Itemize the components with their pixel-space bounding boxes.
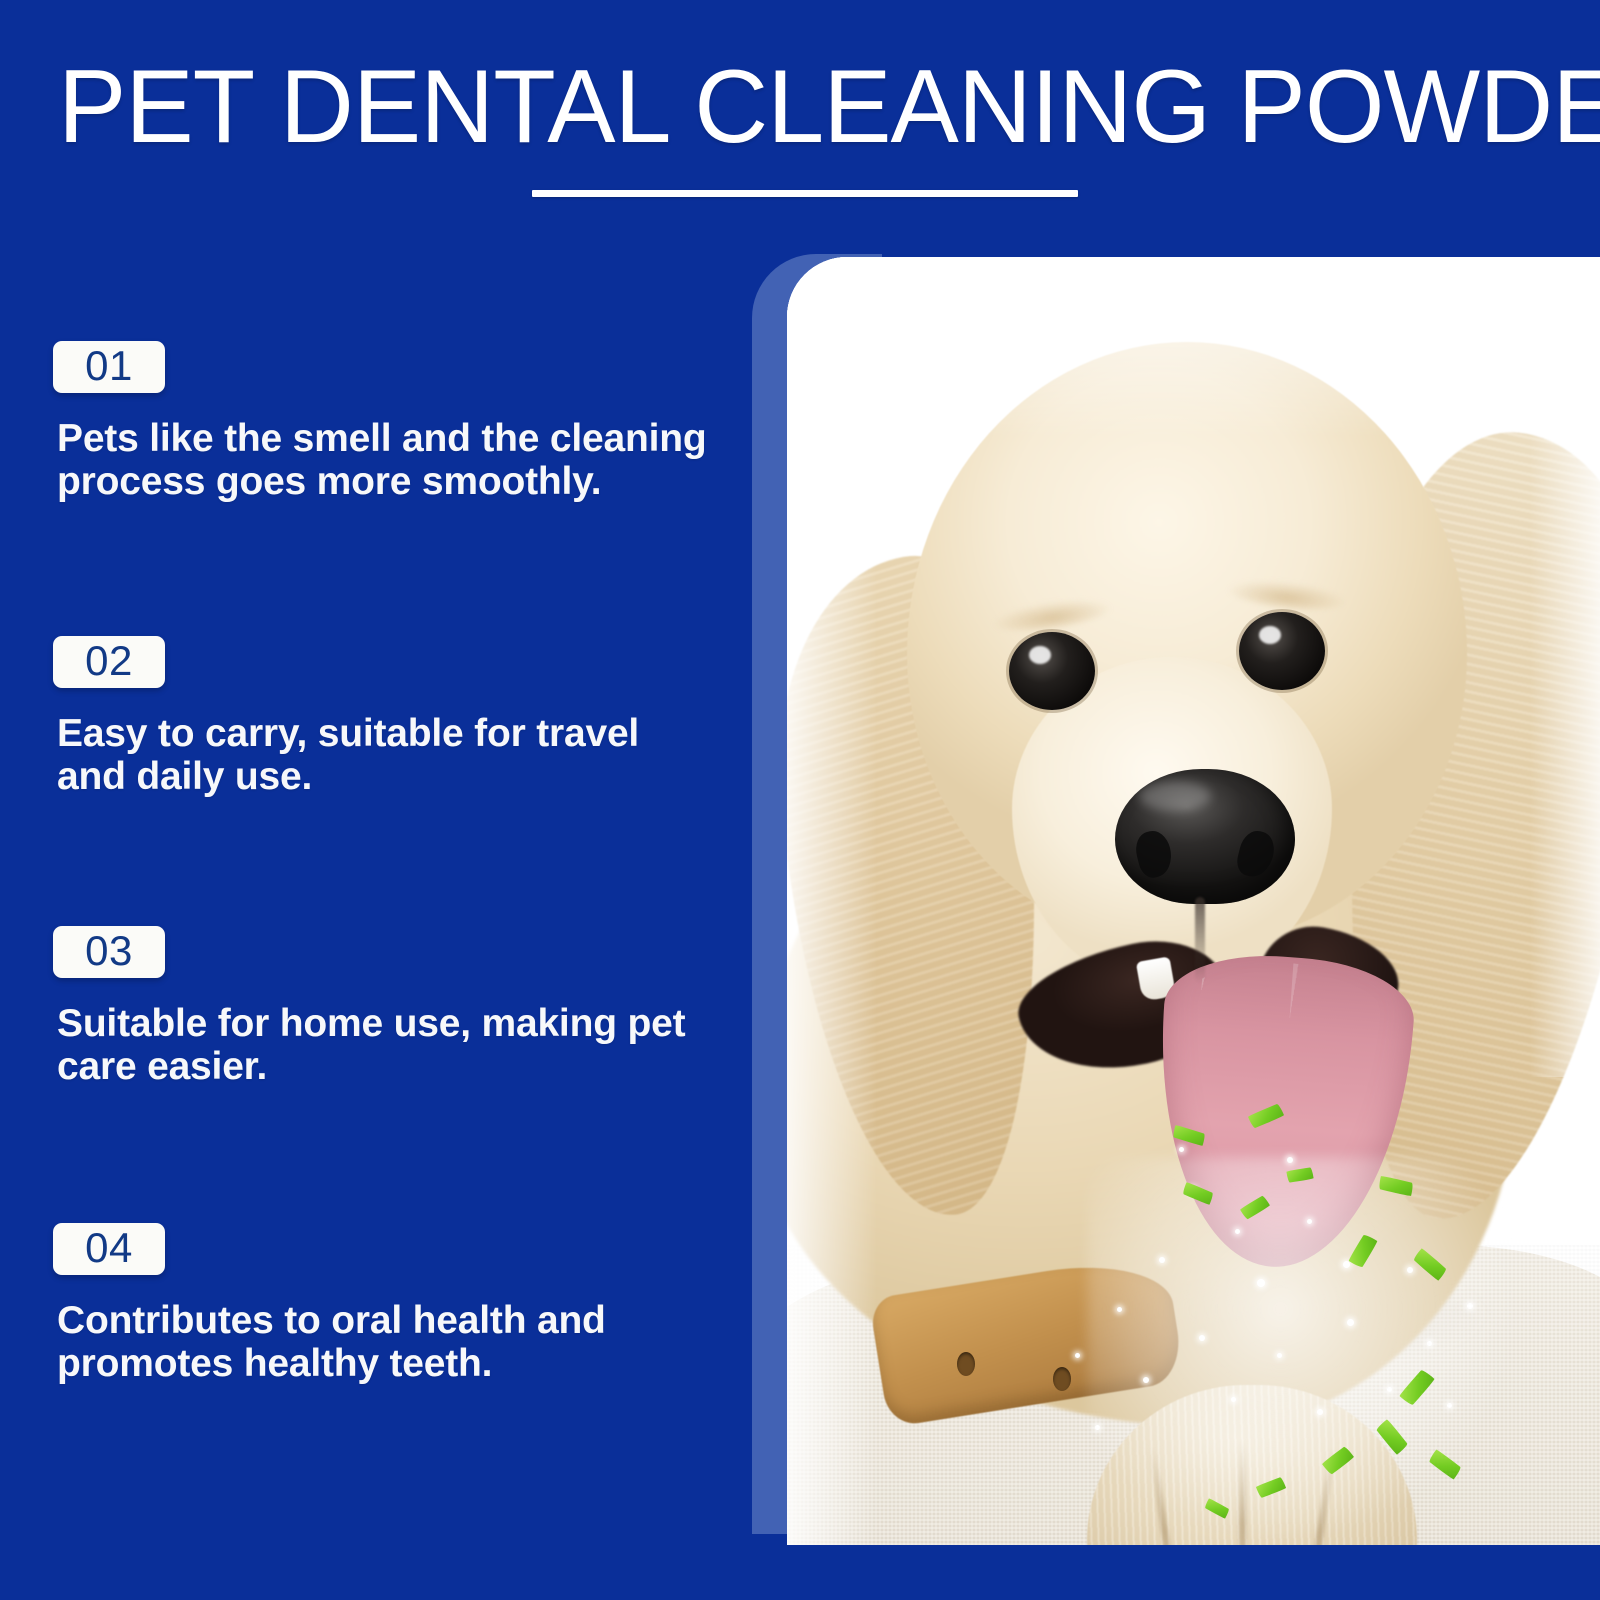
feature-description-03: Suitable for home use, making pet care e… bbox=[57, 1002, 713, 1088]
powder-sparkle bbox=[1159, 1257, 1165, 1263]
cleaning-powder-haze bbox=[1087, 1157, 1517, 1537]
powder-sparkle bbox=[1143, 1377, 1149, 1383]
powder-sparkle bbox=[1199, 1335, 1205, 1341]
powder-sparkle bbox=[1257, 1279, 1265, 1287]
feature-number-badge-01: 01 bbox=[53, 341, 165, 393]
feature-list: 01 Pets like the smell and the cleaning … bbox=[0, 0, 740, 1600]
powder-sparkle bbox=[1075, 1353, 1080, 1358]
feature-item-04: 04 Contributes to oral health and promot… bbox=[53, 1223, 713, 1385]
powder-sparkle bbox=[1407, 1267, 1413, 1273]
collar-hole bbox=[957, 1352, 975, 1376]
powder-sparkle bbox=[1287, 1157, 1293, 1163]
feature-description-01: Pets like the smell and the cleaning pro… bbox=[57, 417, 713, 503]
puppy-eye-right bbox=[1239, 612, 1325, 690]
powder-sparkle bbox=[1347, 1319, 1354, 1326]
powder-sparkle bbox=[1235, 1229, 1240, 1234]
puppy-nose-bridge bbox=[1195, 897, 1205, 983]
collar-hole bbox=[1053, 1367, 1071, 1391]
powder-sparkle bbox=[1095, 1425, 1100, 1430]
puppy-photo bbox=[787, 257, 1600, 1545]
feature-item-02: 02 Easy to carry, suitable for travel an… bbox=[53, 636, 713, 798]
powder-sparkle bbox=[1179, 1147, 1184, 1152]
feature-description-04: Contributes to oral health and promotes … bbox=[57, 1299, 713, 1385]
powder-sparkle bbox=[1117, 1307, 1122, 1312]
powder-sparkle bbox=[1307, 1219, 1312, 1224]
puppy-eye-left bbox=[1009, 632, 1095, 710]
powder-sparkle bbox=[1343, 1261, 1350, 1268]
puppy-nose-highlight bbox=[1139, 781, 1211, 811]
feature-number-badge-03: 03 bbox=[53, 926, 165, 978]
feature-number-badge-02: 02 bbox=[53, 636, 165, 688]
powder-sparkle bbox=[1387, 1387, 1392, 1392]
powder-sparkle bbox=[1447, 1403, 1452, 1408]
feature-description-02: Easy to carry, suitable for travel and d… bbox=[57, 712, 713, 798]
powder-sparkle bbox=[1231, 1397, 1236, 1402]
powder-sparkle bbox=[1317, 1409, 1323, 1415]
product-photo-panel bbox=[787, 257, 1600, 1545]
powder-sparkle bbox=[1467, 1303, 1473, 1309]
powder-sparkle bbox=[1427, 1341, 1432, 1346]
feature-number-badge-04: 04 bbox=[53, 1223, 165, 1275]
feature-item-01: 01 Pets like the smell and the cleaning … bbox=[53, 341, 713, 503]
feature-item-03: 03 Suitable for home use, making pet car… bbox=[53, 926, 713, 1088]
poster-canvas: PET DENTAL CLEANING POWDER 01 Pets like … bbox=[0, 0, 1600, 1600]
powder-sparkle bbox=[1277, 1353, 1282, 1358]
